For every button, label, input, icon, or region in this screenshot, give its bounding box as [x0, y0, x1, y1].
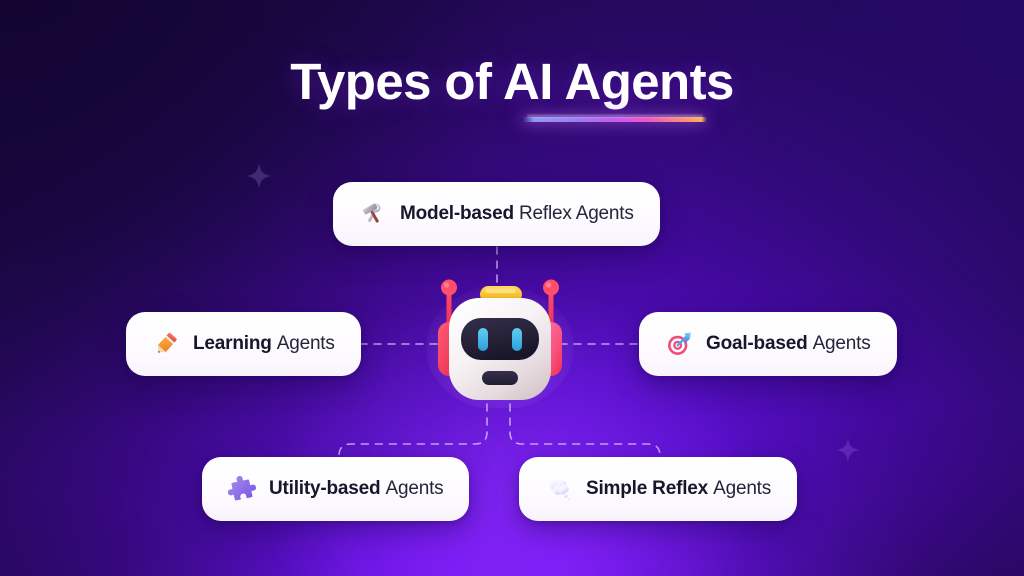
- robot-visor: [461, 318, 539, 360]
- hammer-and-wrench-icon: [359, 200, 387, 228]
- card-label-bold: Model-based: [400, 203, 514, 224]
- eye-left: [478, 328, 488, 351]
- card-learning-agents[interactable]: Learning Agents: [126, 312, 361, 376]
- card-label-goal-based-agents: Goal-based Agents: [706, 333, 871, 355]
- pencil-icon: [152, 330, 180, 358]
- dart-target-icon: [665, 330, 693, 358]
- card-label-simple-reflex-agents: Simple Reflex Agents: [586, 478, 771, 500]
- card-label-bold: Goal-based: [706, 333, 807, 354]
- card-label-bold: Utility-based: [269, 478, 380, 499]
- card-label-regular: Agents: [277, 333, 335, 354]
- card-label-regular: Agents: [713, 478, 771, 499]
- card-label-regular: Agents: [813, 333, 871, 354]
- puzzle-piece-icon: [228, 475, 256, 503]
- connector-bottom-right: [510, 404, 660, 459]
- card-label-regular: Reflex Agents: [519, 203, 634, 224]
- ai-robot-mascot: [424, 272, 576, 408]
- card-label-bold: Simple Reflex: [586, 478, 708, 499]
- eye-right: [512, 328, 522, 351]
- card-goal-based-agents[interactable]: Goal-based Agents: [639, 312, 897, 376]
- infographic-canvas: Types of AI Agents: [0, 0, 1024, 576]
- connector-bottom-left: [339, 404, 487, 459]
- card-model-based-reflex-agents[interactable]: Model-based Reflex Agents: [333, 182, 660, 246]
- card-label-bold: Learning: [193, 333, 272, 354]
- card-label-learning-agents: Learning Agents: [193, 333, 335, 355]
- thought-bubble-icon: [545, 475, 573, 503]
- robot-mouth: [482, 371, 518, 385]
- card-simple-reflex-agents[interactable]: Simple Reflex Agents: [519, 457, 797, 521]
- card-label-regular: Agents: [386, 478, 444, 499]
- card-label-model-based-reflex-agents: Model-based Reflex Agents: [400, 203, 634, 225]
- card-label-utility-based-agents: Utility-based Agents: [269, 478, 443, 500]
- card-utility-based-agents[interactable]: Utility-based Agents: [202, 457, 469, 521]
